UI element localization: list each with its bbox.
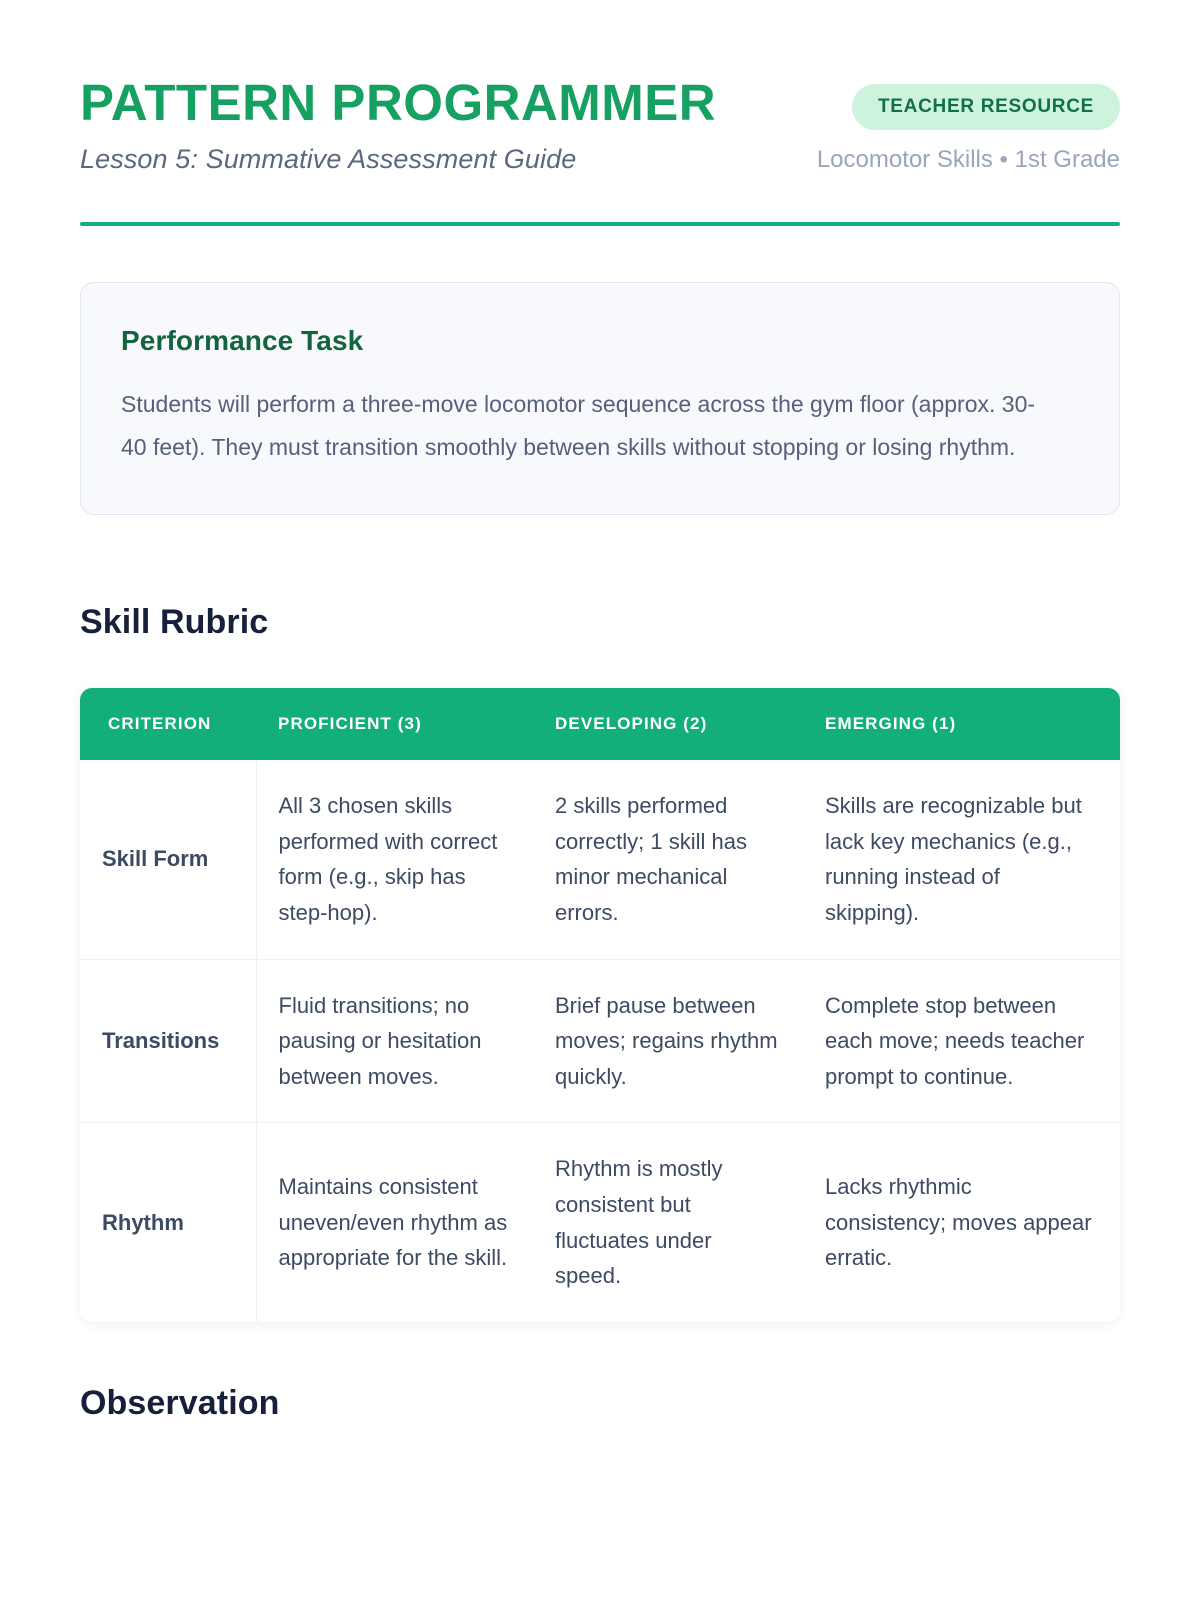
performance-task-card: Performance Task Students will perform a… <box>80 282 1120 515</box>
table-row: Skill Form All 3 chosen skills performed… <box>80 760 1120 959</box>
column-header-proficient: PROFICIENT (3) <box>256 688 533 760</box>
cell-emerging: Skills are recognizable but lack key mec… <box>803 760 1120 959</box>
table-row: Transitions Fluid transitions; no pausin… <box>80 959 1120 1123</box>
column-header-emerging: EMERGING (1) <box>803 688 1120 760</box>
header-divider <box>80 222 1120 226</box>
cell-criterion: Skill Form <box>80 760 256 959</box>
table-body: Skill Form All 3 chosen skills performed… <box>80 760 1120 1322</box>
cell-developing: Rhythm is mostly consistent but fluctuat… <box>533 1123 803 1322</box>
cell-developing: Brief pause between moves; regains rhyth… <box>533 959 803 1123</box>
header-right: TEACHER RESOURCE Locomotor Skills • 1st … <box>790 78 1120 176</box>
cell-criterion: Transitions <box>80 959 256 1123</box>
performance-task-body: Students will perform a three-move locom… <box>121 383 1041 468</box>
page-subtitle: Lesson 5: Summative Assessment Guide <box>80 144 716 175</box>
performance-task-title: Performance Task <box>121 325 1079 357</box>
document-page: PATTERN PROGRAMMER Lesson 5: Summative A… <box>0 0 1200 1600</box>
column-header-criterion: CRITERION <box>80 688 256 760</box>
skill-rubric-table: CRITERION PROFICIENT (3) DEVELOPING (2) … <box>80 688 1120 1322</box>
header-left: PATTERN PROGRAMMER Lesson 5: Summative A… <box>80 78 716 175</box>
header-meta: Locomotor Skills • 1st Grade <box>790 144 1120 176</box>
cell-developing: 2 skills performed correctly; 1 skill ha… <box>533 760 803 959</box>
skill-rubric-heading: Skill Rubric <box>80 603 1120 642</box>
table-header: CRITERION PROFICIENT (3) DEVELOPING (2) … <box>80 688 1120 760</box>
column-header-developing: DEVELOPING (2) <box>533 688 803 760</box>
cell-proficient: All 3 chosen skills performed with corre… <box>256 760 533 959</box>
status-badge: TEACHER RESOURCE <box>852 84 1120 130</box>
table-header-row: CRITERION PROFICIENT (3) DEVELOPING (2) … <box>80 688 1120 760</box>
cell-emerging: Complete stop between each move; needs t… <box>803 959 1120 1123</box>
skill-rubric-table-wrapper: CRITERION PROFICIENT (3) DEVELOPING (2) … <box>80 688 1120 1322</box>
cell-criterion: Rhythm <box>80 1123 256 1322</box>
table-row: Rhythm Maintains consistent uneven/even … <box>80 1123 1120 1322</box>
cell-proficient: Maintains consistent uneven/even rhythm … <box>256 1123 533 1322</box>
observation-heading: Observation <box>80 1384 1120 1423</box>
cell-emerging: Lacks rhythmic consistency; moves appear… <box>803 1123 1120 1322</box>
document-header: PATTERN PROGRAMMER Lesson 5: Summative A… <box>80 0 1120 176</box>
page-title: PATTERN PROGRAMMER <box>80 78 716 128</box>
cell-proficient: Fluid transitions; no pausing or hesitat… <box>256 959 533 1123</box>
